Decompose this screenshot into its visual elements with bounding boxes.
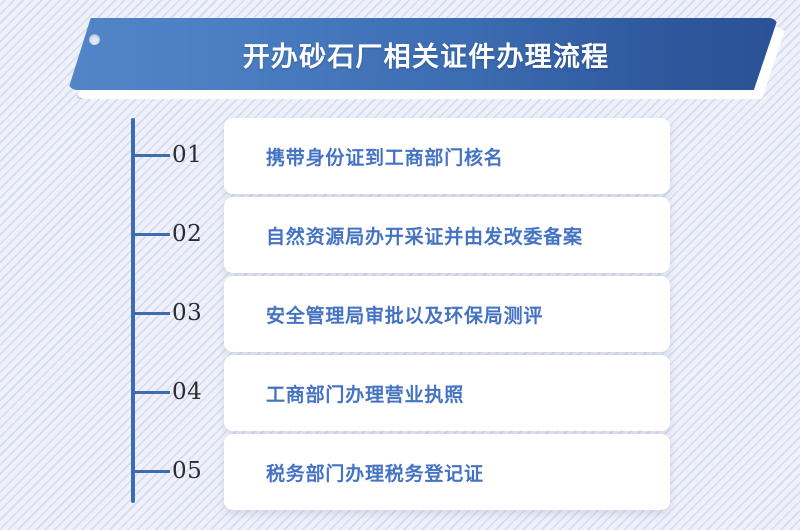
- step-tick-icon: [134, 233, 170, 236]
- step-card[interactable]: 安全管理局审批以及环保局测评: [224, 276, 670, 352]
- step-card[interactable]: 自然资源局办开采证并由发改委备案: [224, 197, 670, 273]
- step-label: 工商部门办理营业执照: [224, 380, 464, 407]
- step-tick-icon: [134, 312, 170, 315]
- timeline-step-5[interactable]: 05 税务部门办理税务登记证: [0, 434, 800, 510]
- header-banner: 开办砂石厂相关证件办理流程: [68, 18, 788, 96]
- page-title: 开办砂石厂相关证件办理流程: [68, 18, 778, 90]
- step-number: 05: [172, 455, 218, 487]
- timeline-step-3[interactable]: 03 安全管理局审批以及环保局测评: [0, 276, 800, 352]
- step-number: 03: [172, 297, 218, 329]
- timeline-step-1[interactable]: 01 携带身份证到工商部门核名: [0, 118, 800, 194]
- step-number: 02: [172, 218, 218, 250]
- step-label: 携带身份证到工商部门核名: [224, 143, 504, 170]
- step-label: 自然资源局办开采证并由发改委备案: [224, 222, 583, 249]
- step-number: 04: [172, 376, 218, 408]
- step-tick-icon: [134, 154, 170, 157]
- step-card[interactable]: 工商部门办理营业执照: [224, 355, 670, 431]
- step-tick-icon: [134, 470, 170, 473]
- step-card[interactable]: 携带身份证到工商部门核名: [224, 118, 670, 194]
- step-label: 税务部门办理税务登记证: [224, 459, 484, 486]
- step-tick-icon: [134, 391, 170, 394]
- step-label: 安全管理局审批以及环保局测评: [224, 301, 543, 328]
- step-card[interactable]: 税务部门办理税务登记证: [224, 434, 670, 510]
- step-number: 01: [172, 139, 218, 171]
- flowchart-page: 开办砂石厂相关证件办理流程 01 携带身份证到工商部门核名 02 自然资源局办开…: [0, 0, 800, 530]
- timeline-step-2[interactable]: 02 自然资源局办开采证并由发改委备案: [0, 197, 800, 273]
- timeline-step-4[interactable]: 04 工商部门办理营业执照: [0, 355, 800, 431]
